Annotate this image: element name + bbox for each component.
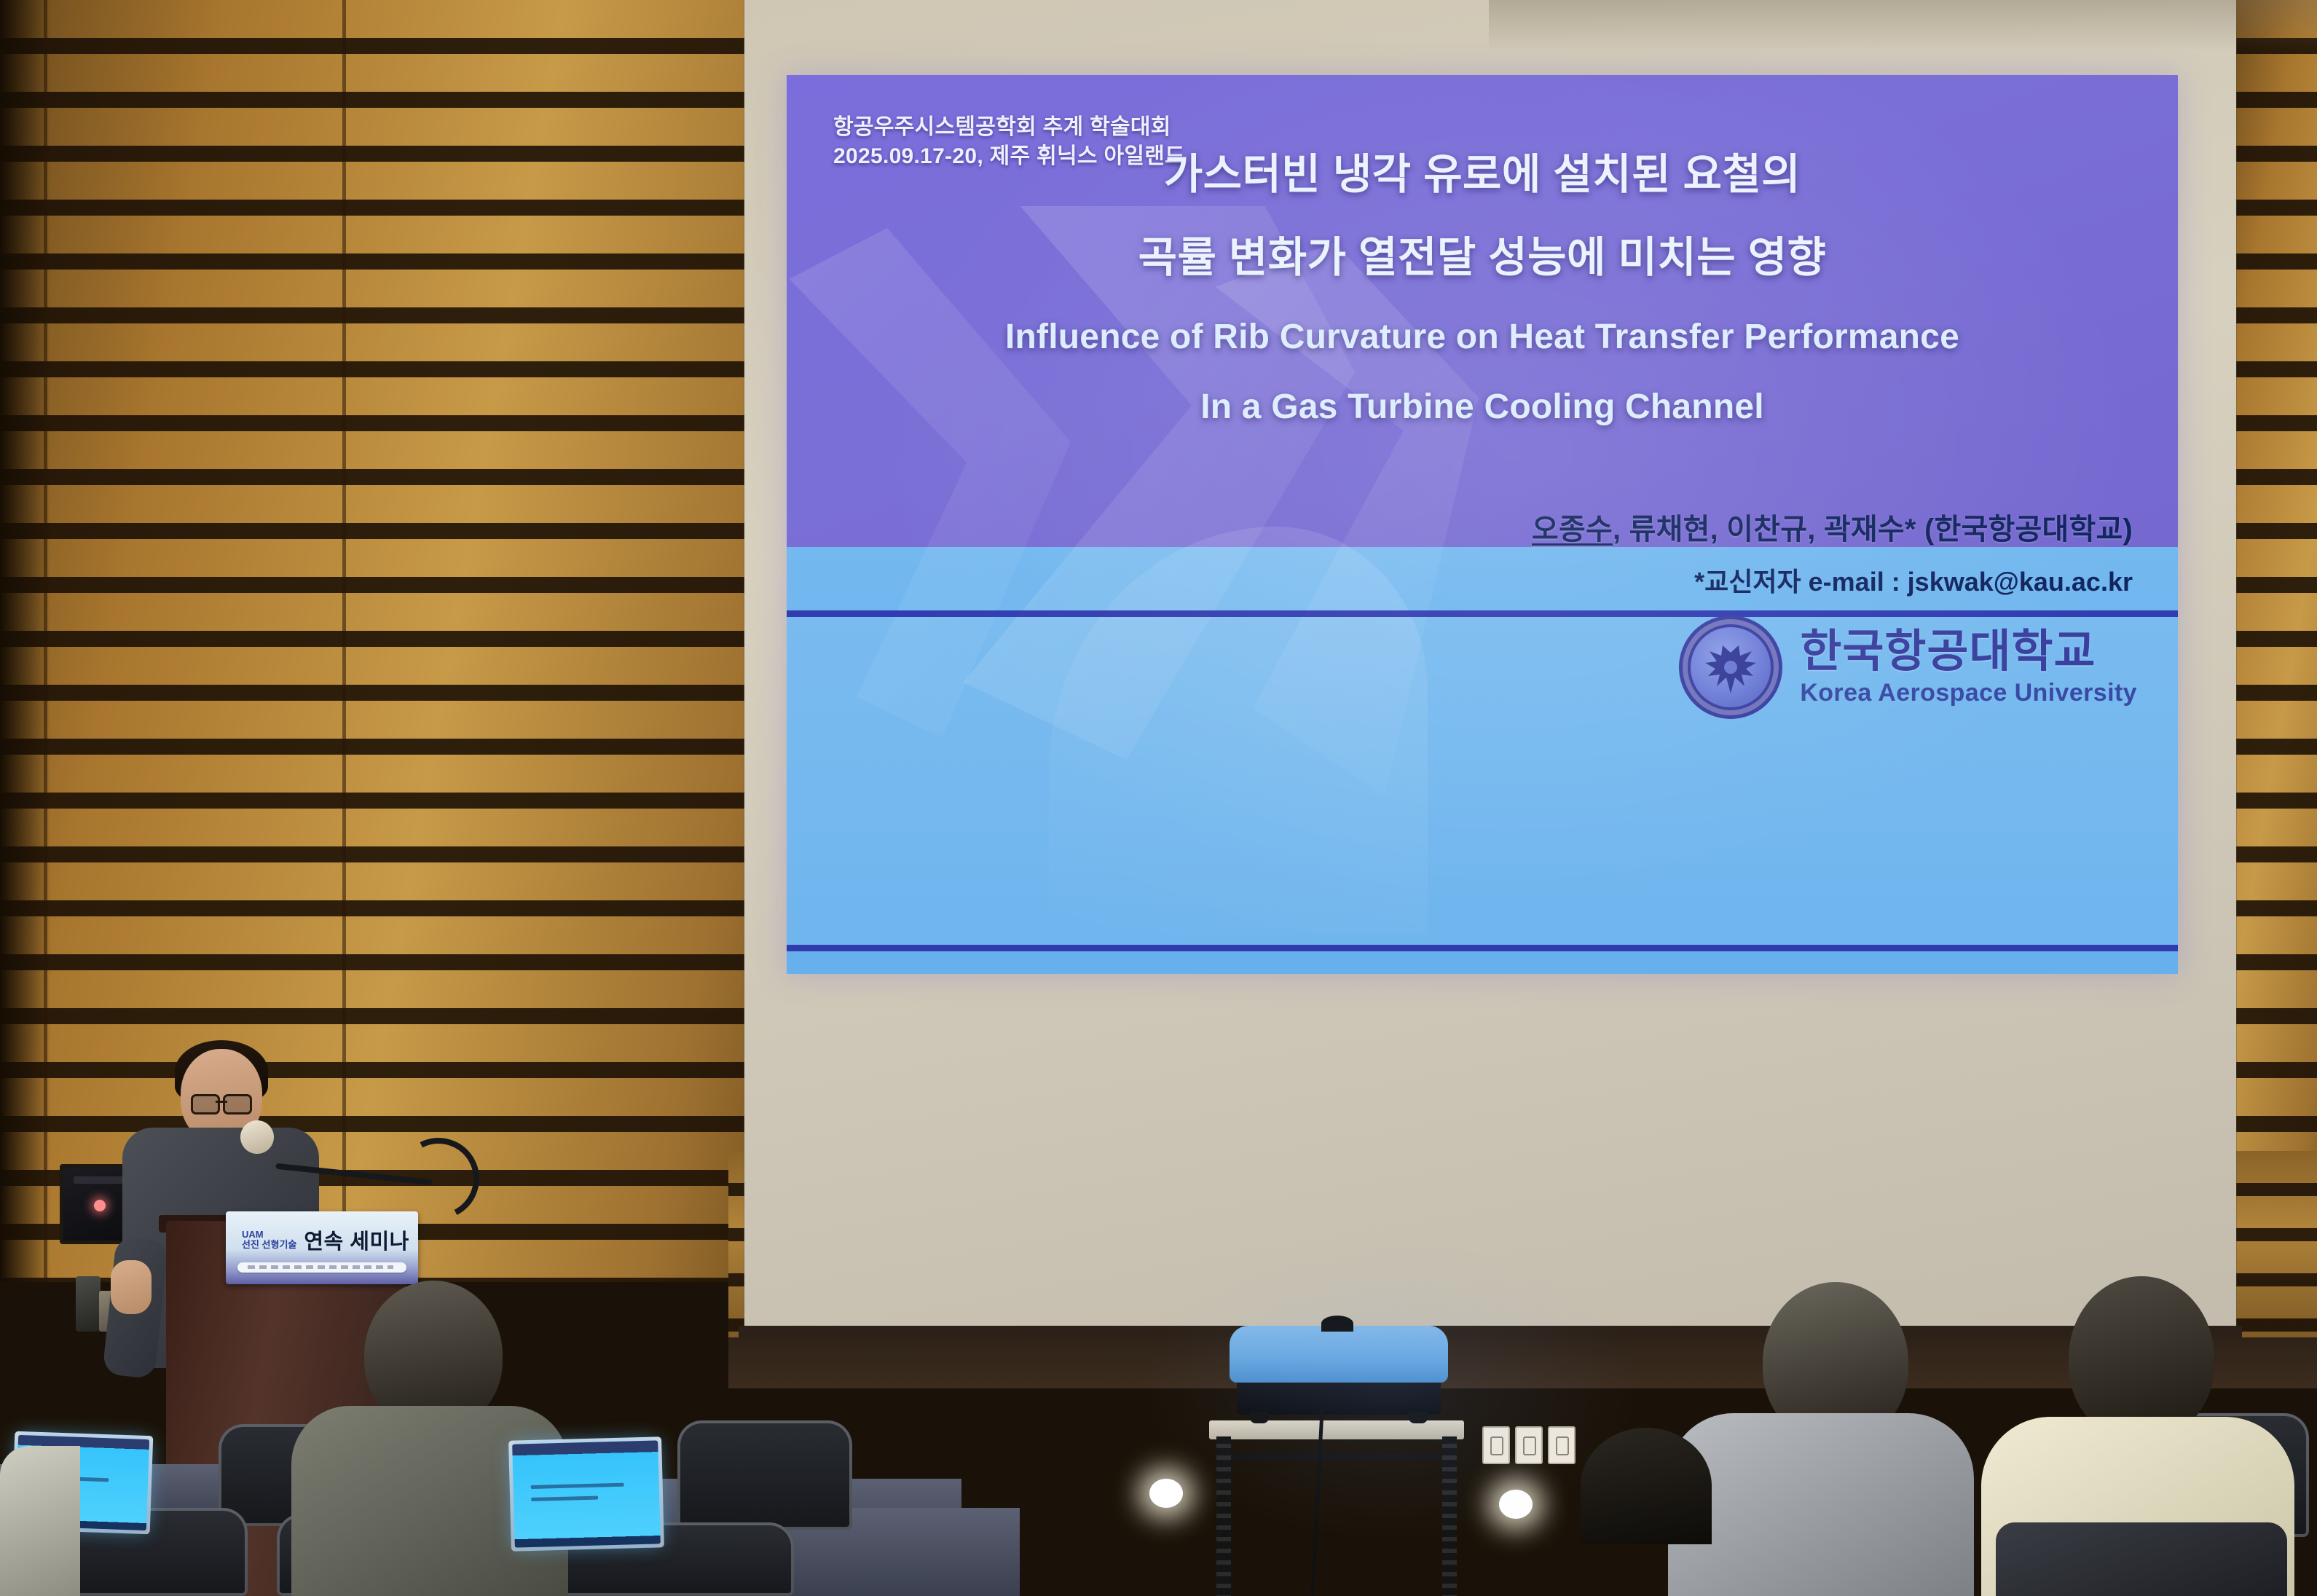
panel-slot bbox=[74, 1176, 126, 1184]
stand-top bbox=[1209, 1420, 1464, 1439]
audience-shoulder bbox=[0, 1446, 80, 1596]
projector-lens-icon bbox=[1321, 1316, 1353, 1332]
audience-bag-strap bbox=[1996, 1522, 2287, 1596]
audience-body bbox=[1668, 1413, 1974, 1596]
screen-top-shadow bbox=[1489, 0, 2317, 51]
audience-head bbox=[2069, 1276, 2214, 1440]
floor-light bbox=[1149, 1479, 1183, 1508]
conference-room-photo: 항공우주시스템공학회 추계 학술대회 2025.09.17-20, 제주 휘닉스… bbox=[0, 0, 2317, 1596]
stand-rail bbox=[1216, 1454, 1457, 1460]
wood-slat-wall-left bbox=[0, 0, 801, 1282]
author-list: 오종수, 류채현, 이찬규, 곽재수* (한국항공대학교) bbox=[1186, 512, 2133, 548]
presenting-author: 오종수 bbox=[1532, 514, 1613, 546]
microphone-stand bbox=[255, 1136, 452, 1224]
slide-title-block: 가스터빈 냉각 유로에 설치된 요철의 곡률 변화가 열전달 성능에 미치는 영… bbox=[787, 154, 2178, 460]
conference-name: 항공우주시스템공학회 추계 학술대회 bbox=[833, 113, 1185, 142]
university-logo-text: 한국항공대학교 Korea Aerospace University bbox=[1800, 629, 2137, 705]
wall-outlet bbox=[1482, 1426, 1510, 1464]
university-logo: 한국항공대학교 Korea Aerospace University bbox=[1679, 616, 2137, 719]
university-name-en: Korea Aerospace University bbox=[1800, 680, 2137, 705]
university-name-ko: 한국항공대학교 bbox=[1800, 629, 2096, 675]
stand-leg bbox=[1216, 1436, 1231, 1596]
lens-left bbox=[191, 1094, 220, 1115]
podium-sign: UAM 선진 선형기술 연속 세미나 bbox=[226, 1211, 418, 1284]
microphone-icon bbox=[240, 1120, 274, 1154]
stand-leg bbox=[1442, 1436, 1457, 1596]
laptop-lid bbox=[508, 1436, 664, 1551]
chair bbox=[677, 1420, 852, 1530]
title-korean-line-2: 곡률 변화가 열전달 성능에 미치는 영향 bbox=[787, 237, 2178, 279]
projector-foot bbox=[1250, 1412, 1269, 1423]
wall-outlet bbox=[1515, 1426, 1543, 1464]
podium-sign-sub-line2: 선진 선형기술 bbox=[242, 1240, 296, 1250]
podium-sign-row: UAM 선진 선형기술 연속 세미나 bbox=[226, 1211, 418, 1255]
projector-stand bbox=[1209, 1420, 1464, 1596]
podium-sign-sub-line1: UAM bbox=[242, 1230, 296, 1240]
laptop-screen bbox=[512, 1440, 661, 1547]
university-seal-icon bbox=[1679, 616, 1782, 719]
presentation-slide: 항공우주시스템공학회 추계 학술대회 2025.09.17-20, 제주 휘닉스… bbox=[787, 75, 2178, 974]
screen-bottom-bar bbox=[739, 1326, 2242, 1337]
laptop[interactable] bbox=[508, 1436, 664, 1551]
wall-outlet bbox=[1548, 1426, 1576, 1464]
podium-sign-title: 연속 세미나 bbox=[304, 1224, 409, 1255]
title-korean-line-1: 가스터빈 냉각 유로에 설치된 요철의 bbox=[787, 154, 2178, 196]
speaker-hand bbox=[111, 1260, 152, 1314]
screen-text-line bbox=[531, 1495, 598, 1501]
projector-shell bbox=[1230, 1326, 1448, 1383]
corresponding-email: *교신저자 e-mail : jskwak@kau.ac.kr bbox=[1186, 561, 2133, 599]
floor-light bbox=[1499, 1490, 1533, 1519]
podium-sign-subtitle: UAM 선진 선형기술 bbox=[242, 1230, 296, 1249]
slide-bottom-rule bbox=[787, 945, 2178, 951]
projector bbox=[1230, 1326, 1448, 1422]
screen-text-line bbox=[531, 1482, 624, 1488]
title-english-line-1: Influence of Rib Curvature on Heat Trans… bbox=[787, 320, 2178, 355]
wall-mounted-device bbox=[76, 1276, 101, 1332]
audience-head bbox=[1581, 1428, 1712, 1544]
title-english-line-2: In a Gas Turbine Cooling Channel bbox=[787, 390, 2178, 425]
wall-seam bbox=[342, 0, 346, 1282]
power-led-icon bbox=[94, 1200, 106, 1211]
wall-seam bbox=[44, 0, 47, 1282]
wood-slat-wall-right bbox=[2229, 0, 2317, 1311]
author-block: 오종수, 류채현, 이찬규, 곽재수* (한국항공대학교) *교신저자 e-ma… bbox=[1186, 512, 2133, 599]
eagle-icon bbox=[1704, 645, 1758, 693]
lens-right bbox=[223, 1094, 252, 1115]
glasses-icon bbox=[191, 1094, 252, 1110]
coauthor-list: , 류채현, 이찬규, 곽재수* (한국항공대학교) bbox=[1613, 514, 2133, 546]
projector-foot bbox=[1409, 1412, 1428, 1423]
podium-sign-strip bbox=[237, 1262, 406, 1273]
